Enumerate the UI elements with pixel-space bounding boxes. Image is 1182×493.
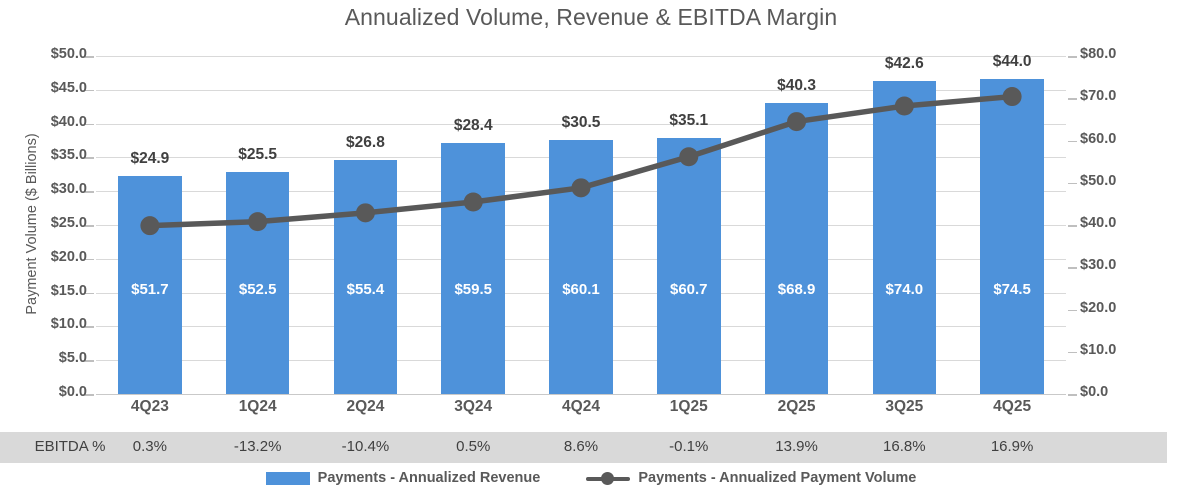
line-value-label: $35.1: [669, 112, 708, 130]
y-tick-label-primary: $50.0: [7, 46, 87, 62]
y-tick-mark-secondary: [1068, 394, 1077, 396]
y-tick-mark-secondary: [1068, 183, 1077, 185]
line-marker[interactable]: [572, 178, 591, 197]
ebitda-value: 16.8%: [850, 438, 958, 455]
y-tick-label-primary: $45.0: [7, 80, 87, 96]
line-value-label: $44.0: [993, 53, 1032, 71]
chart-title: Annualized Volume, Revenue & EBITDA Marg…: [0, 4, 1182, 31]
y-tick-mark-secondary: [1068, 56, 1077, 58]
ebitda-value: -10.4%: [312, 438, 420, 455]
line-swatch-icon: [586, 472, 630, 485]
y-tick-label-primary: $0.0: [7, 384, 87, 400]
x-axis-category-label: 1Q25: [635, 398, 743, 416]
line-value-label: $24.9: [130, 150, 169, 168]
line-marker[interactable]: [140, 216, 159, 235]
y-tick-label-primary: $5.0: [7, 350, 87, 366]
ebitda-value: 0.5%: [419, 438, 527, 455]
y-tick-label-secondary: $80.0: [1080, 46, 1160, 62]
chart-legend: Payments - Annualized Revenue Payments -…: [0, 466, 1182, 490]
y-tick-label-secondary: $30.0: [1080, 257, 1160, 273]
line-marker[interactable]: [1003, 87, 1022, 106]
x-axis-category-label: 4Q24: [527, 398, 635, 416]
line-value-label: $28.4: [454, 117, 493, 135]
line-marker[interactable]: [464, 193, 483, 212]
y-tick-mark-secondary: [1068, 352, 1077, 354]
y-tick-mark-secondary: [1068, 267, 1077, 269]
y-tick-label-secondary: $40.0: [1080, 215, 1160, 231]
ebitda-value: 13.9%: [743, 438, 851, 455]
legend-label-revenue: Payments - Annualized Revenue: [318, 470, 541, 486]
x-axis-category-label: 3Q25: [850, 398, 958, 416]
line-marker[interactable]: [787, 112, 806, 131]
y-tick-label-primary: $30.0: [7, 181, 87, 197]
chart-container: Annualized Volume, Revenue & EBITDA Marg…: [0, 0, 1182, 493]
y-tick-mark-secondary: [1068, 310, 1077, 312]
line-series-layer: [96, 56, 1066, 394]
plot-area: $51.7$52.5$55.4$59.5$60.1$60.7$68.9$74.0…: [96, 56, 1066, 394]
x-axis-category-label: 1Q24: [204, 398, 312, 416]
ebitda-value: 8.6%: [527, 438, 635, 455]
y-tick-label-secondary: $20.0: [1080, 300, 1160, 316]
x-axis-category-label: 4Q23: [96, 398, 204, 416]
y-tick-label-primary: $40.0: [7, 114, 87, 130]
line-value-label: $42.6: [885, 55, 924, 73]
y-tick-mark-secondary: [1068, 98, 1077, 100]
ebitda-value: -13.2%: [204, 438, 312, 455]
legend-label-payment-volume: Payments - Annualized Payment Volume: [638, 470, 916, 486]
ebitda-value: 16.9%: [958, 438, 1066, 455]
line-marker[interactable]: [895, 97, 914, 116]
y-tick-label-primary: $20.0: [7, 249, 87, 265]
y-tick-label-secondary: $0.0: [1080, 384, 1160, 400]
y-tick-label-primary: $25.0: [7, 215, 87, 231]
legend-item-payment-volume[interactable]: Payments - Annualized Payment Volume: [586, 470, 916, 486]
x-axis-category-label: 2Q25: [743, 398, 851, 416]
bar-swatch-icon: [266, 472, 310, 485]
y-tick-label-primary: $15.0: [7, 283, 87, 299]
legend-item-revenue[interactable]: Payments - Annualized Revenue: [266, 470, 541, 486]
y-tick-label-secondary: $60.0: [1080, 131, 1160, 147]
y-tick-label-secondary: $70.0: [1080, 88, 1160, 104]
ebitda-value: -0.1%: [635, 438, 743, 455]
x-axis-category-label: 4Q25: [958, 398, 1066, 416]
x-axis-category-label: 3Q24: [419, 398, 527, 416]
line-marker[interactable]: [679, 147, 698, 166]
line-value-label: $26.8: [346, 134, 385, 152]
line-value-label: $25.5: [238, 146, 277, 164]
y-tick-mark-secondary: [1068, 225, 1077, 227]
y-tick-label-primary: $10.0: [7, 316, 87, 332]
y-tick-label-secondary: $50.0: [1080, 173, 1160, 189]
line-marker[interactable]: [248, 212, 267, 231]
x-axis-category-labels: 4Q231Q242Q243Q244Q241Q252Q253Q254Q25: [96, 398, 1066, 430]
line-marker[interactable]: [356, 203, 375, 222]
y-tick-label-primary: $35.0: [7, 147, 87, 163]
ebitda-value: 0.3%: [96, 438, 204, 455]
line-value-label: $40.3: [777, 77, 816, 95]
y-tick-label-secondary: $10.0: [1080, 342, 1160, 358]
x-axis-category-label: 2Q24: [312, 398, 420, 416]
line-value-label: $30.5: [562, 114, 601, 132]
y-tick-mark-secondary: [1068, 141, 1077, 143]
